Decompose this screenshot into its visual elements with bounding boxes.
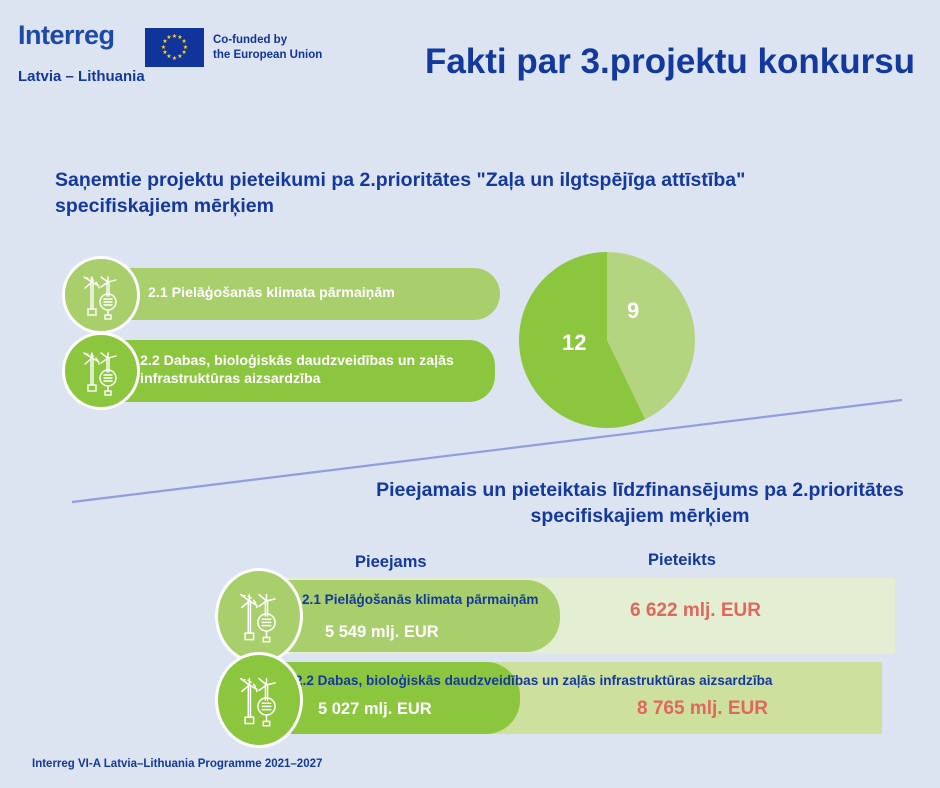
funding-available-2-1: 5 549 mlj. EUR bbox=[325, 623, 439, 642]
page-title: Fakti par 3.projektu konkursu bbox=[420, 42, 920, 81]
interreg-wordmark: Interreg bbox=[18, 22, 145, 49]
eu-cofunding-text: Co-funded by the European Union bbox=[213, 33, 322, 63]
wind-turbine-icon bbox=[215, 568, 303, 664]
eu-star-icon: ★ bbox=[166, 35, 172, 41]
eu-star-icon: ★ bbox=[162, 50, 168, 56]
eu-flag-icon: ★★★★★★★★★★★★ bbox=[145, 28, 204, 67]
infographic-page: Interreg Latvia – Lithuania ★★★★★★★★★★★★… bbox=[0, 0, 940, 788]
programme-name: Latvia – Lithuania bbox=[18, 68, 145, 85]
funding-row-2-1-title: 2.1 Pielāģošanās klimata pārmaiņām bbox=[302, 592, 539, 607]
column-header-available: Pieejams bbox=[355, 553, 427, 572]
pie-label-2-1: 9 bbox=[627, 298, 639, 324]
pie-label-2-2: 12 bbox=[562, 330, 586, 356]
funding-applied-2-1: 6 622 mlj. EUR bbox=[630, 600, 761, 622]
eu-text-line-2: the European Union bbox=[213, 48, 322, 63]
eu-star-icon: ★ bbox=[161, 45, 167, 51]
objective-pill-2-1-label: 2.1 Pielāģošanās klimata pārmaiņām bbox=[148, 285, 395, 303]
objective-pill-2-1: 2.1 Pielāģošanās klimata pārmaiņām bbox=[100, 268, 500, 320]
eu-text-line-1: Co-funded by bbox=[213, 33, 322, 48]
eu-star-icon: ★ bbox=[177, 54, 183, 60]
wind-turbine-icon bbox=[215, 652, 303, 748]
eu-cofunding-badge: ★★★★★★★★★★★★ Co-funded by the European U… bbox=[145, 28, 322, 67]
section2-heading: Pieejamais un pieteiktais līdzfinansējum… bbox=[360, 478, 920, 529]
funding-row-2-2-title: 2.2 Dabas, bioloģiskās daudzveidības un … bbox=[295, 673, 772, 688]
interreg-logo: Interreg Latvia – Lithuania bbox=[18, 22, 145, 85]
wind-turbine-icon bbox=[62, 256, 140, 334]
column-header-applied: Pieteikts bbox=[648, 551, 716, 570]
section1-heading: Saņemtie projektu pieteikumi pa 2.priori… bbox=[55, 168, 855, 219]
eu-star-icon: ★ bbox=[172, 56, 178, 62]
footer-text: Interreg VI-A Latvia–Lithuania Programme… bbox=[32, 758, 322, 770]
funding-applied-2-2: 8 765 mlj. EUR bbox=[637, 698, 768, 720]
funding-available-2-2: 5 027 mlj. EUR bbox=[318, 700, 432, 719]
